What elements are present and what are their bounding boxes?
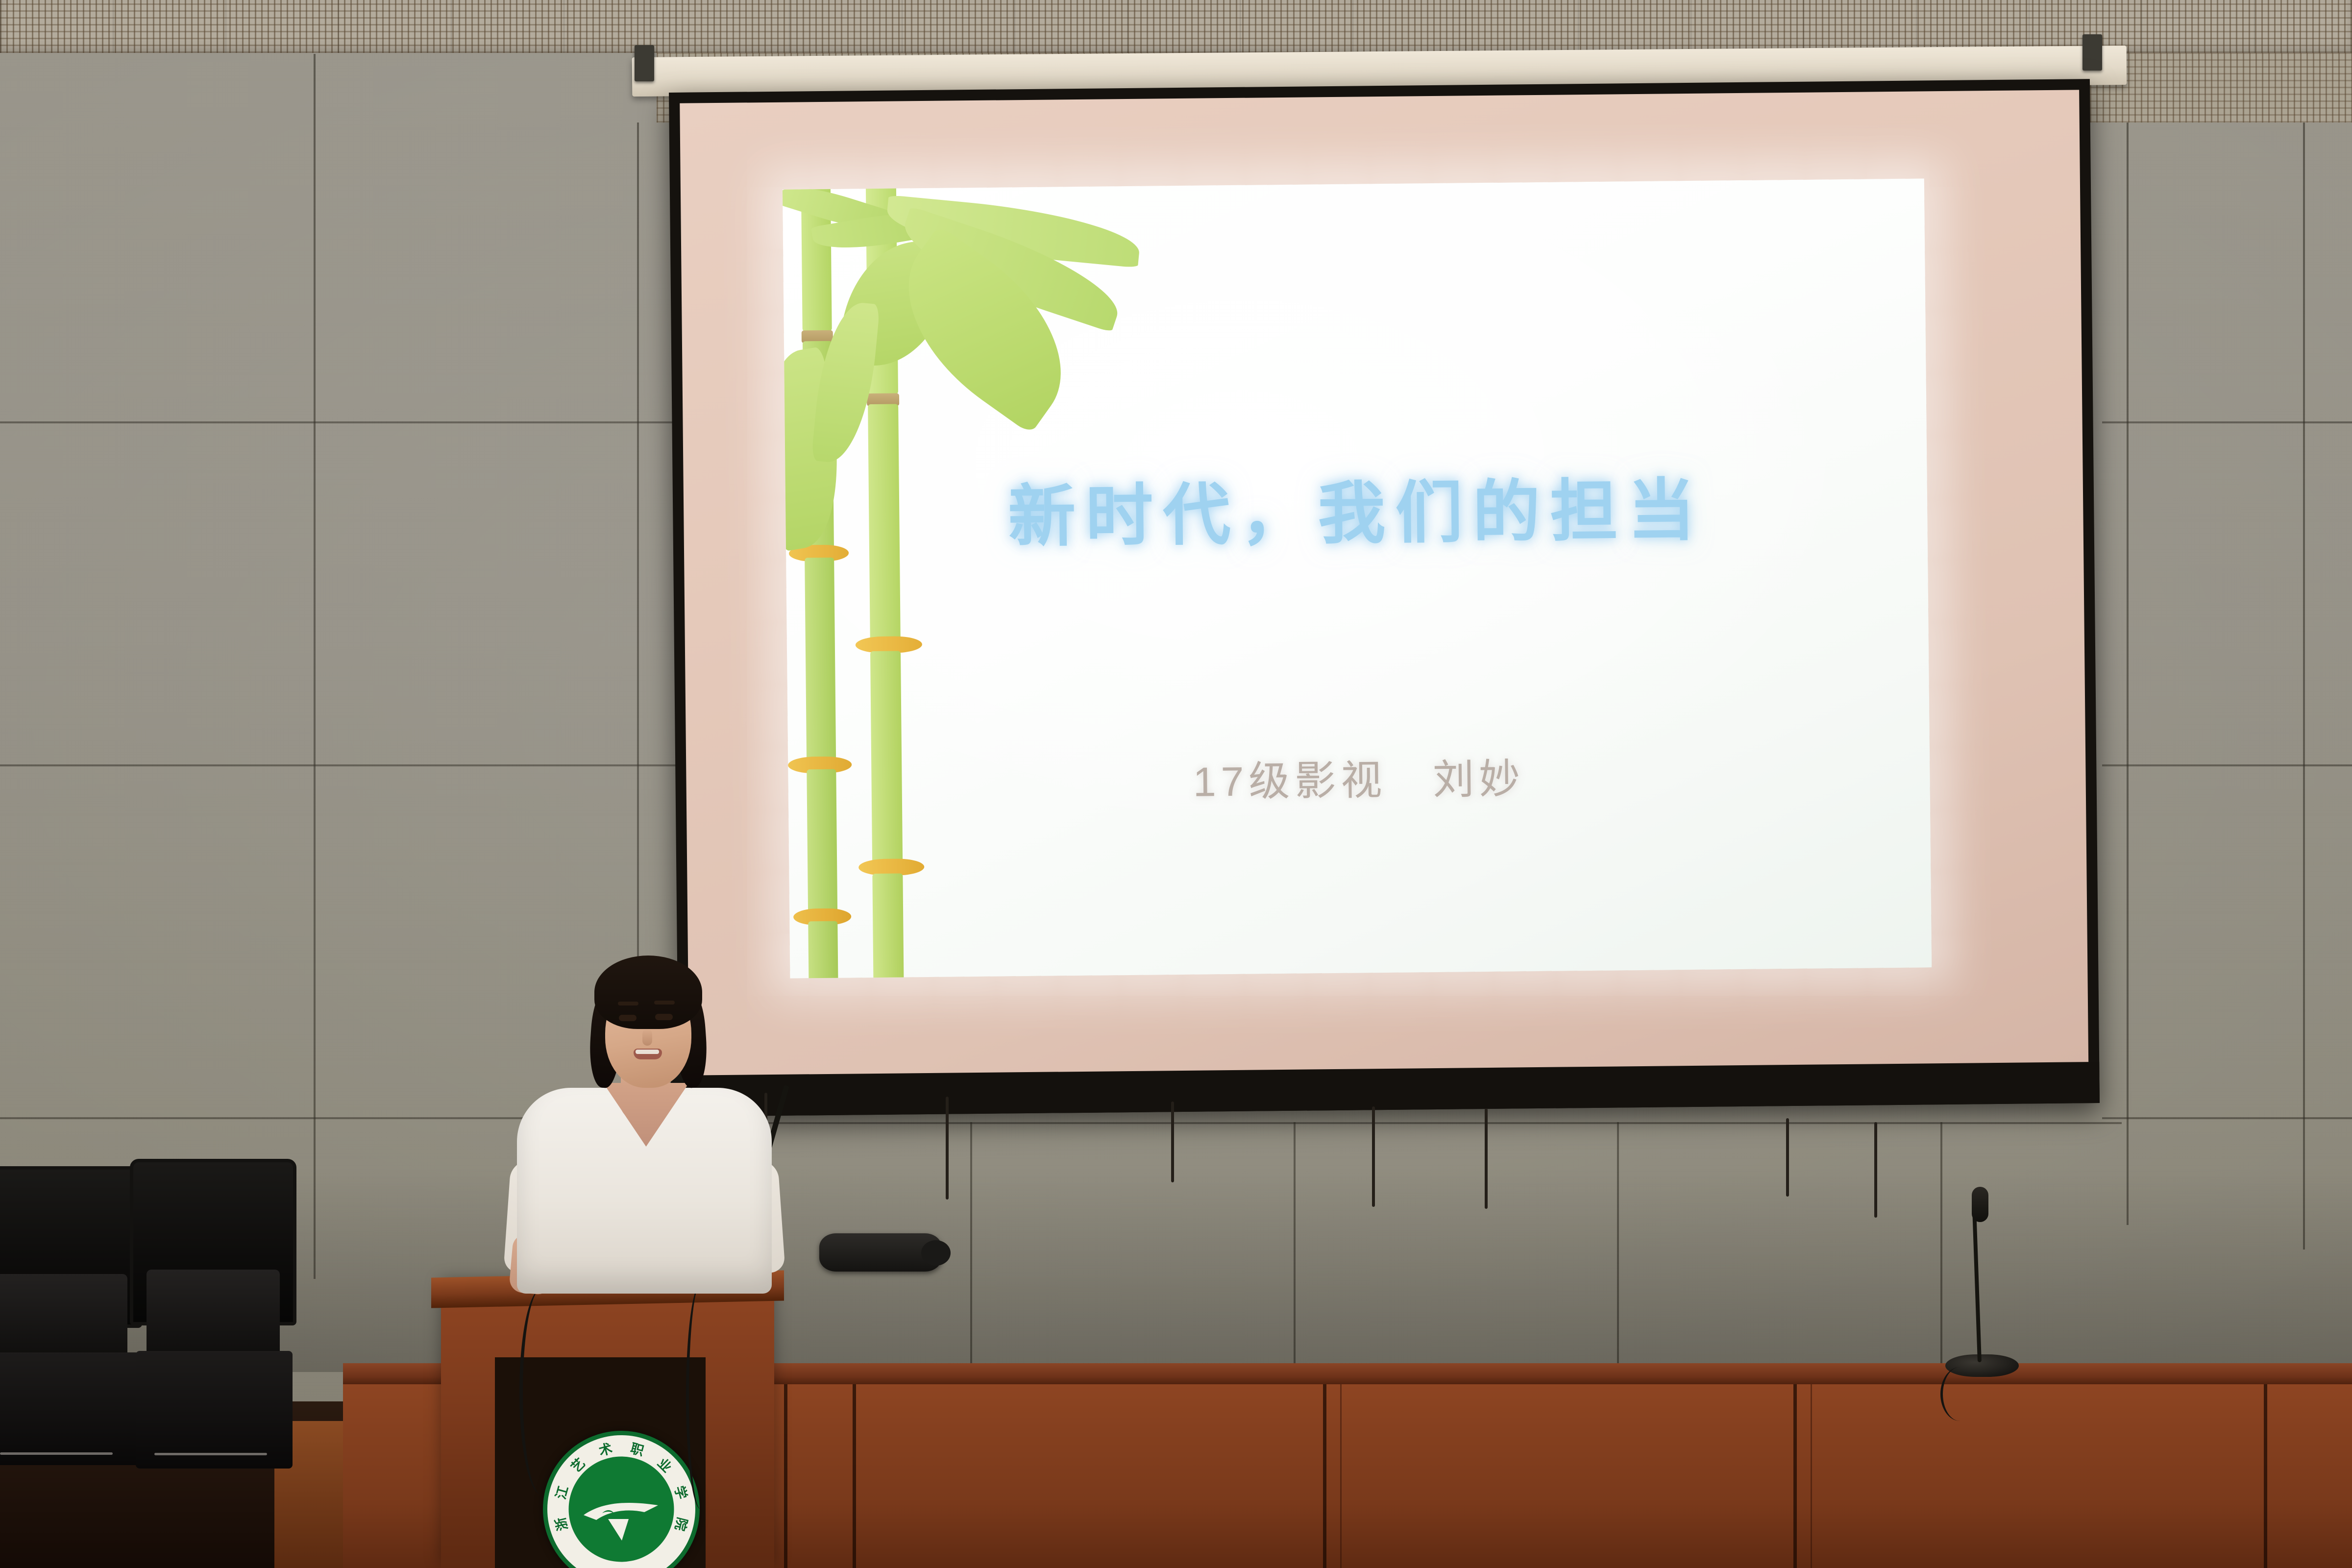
screen-strap: [1171, 1102, 1174, 1182]
screen-strap: [946, 1097, 949, 1200]
table-microphone[interactable]: [1931, 1181, 2038, 1377]
table-panel-groove: [1811, 1384, 1812, 1568]
table-panel-seam: [1323, 1384, 1326, 1568]
eyebrow-left: [618, 1002, 638, 1005]
eye-right: [655, 1014, 673, 1020]
nose: [642, 1029, 652, 1046]
bamboo-stalk-1: [805, 558, 836, 764]
chair-highlight: [0, 1452, 113, 1455]
table-panel-seam: [1793, 1384, 1797, 1568]
bamboo-stalk-2: [872, 873, 904, 978]
slide-subtitle: 17级影视 刘妙: [788, 742, 1930, 812]
screen-strap: [1874, 1122, 1877, 1218]
slide-title: 新时代，我们的担当: [785, 453, 1928, 562]
eye-left: [619, 1015, 637, 1021]
ceiling-panel-seams: [0, 0, 2352, 53]
microphone-stem: [1973, 1215, 1982, 1362]
screen-strap: [1485, 1108, 1488, 1209]
eyebrow-right: [654, 1001, 675, 1004]
hair: [594, 955, 702, 1029]
table-panel-seam: [2264, 1384, 2267, 1568]
speaker: [507, 921, 782, 1294]
teeth: [636, 1050, 659, 1054]
screen-strap: [1786, 1118, 1789, 1197]
emblem-ring-text: 浙江艺术职业学院: [547, 1435, 695, 1568]
chair-cushion: [147, 1270, 280, 1360]
table-panel-seam: [853, 1384, 856, 1568]
roller-bracket-left: [635, 45, 654, 81]
chair[interactable]: [0, 1166, 142, 1470]
projected-slide: 新时代，我们的担当 17级影视 刘妙: [783, 178, 1932, 978]
auditorium-scene: 新时代，我们的担当 17级影视 刘妙: [0, 0, 2352, 1568]
dark-bag[interactable]: [819, 1233, 942, 1272]
chair-seat: [0, 1352, 140, 1465]
college-emblem: 浙江艺术职业学院: [543, 1431, 700, 1568]
table-panel-groove: [1340, 1384, 1342, 1568]
microphone-cable: [1940, 1367, 1980, 1421]
chair-seat: [136, 1351, 293, 1469]
podium-cable: [686, 1284, 715, 1509]
chair-cushion: [0, 1274, 127, 1362]
bag-clip: [921, 1240, 951, 1266]
microphone-head: [1972, 1187, 1988, 1222]
projector-screen: 新时代，我们的担当 17级影视 刘妙: [669, 79, 2100, 1117]
table-panel-seam: [784, 1384, 787, 1568]
podium-cable: [519, 1289, 563, 1494]
bamboo-stalk-1: [808, 921, 838, 979]
roller-bracket-right: [2082, 34, 2102, 71]
chair[interactable]: [130, 1159, 296, 1472]
chair-highlight: [154, 1453, 267, 1455]
screen-strap: [1372, 1106, 1375, 1207]
